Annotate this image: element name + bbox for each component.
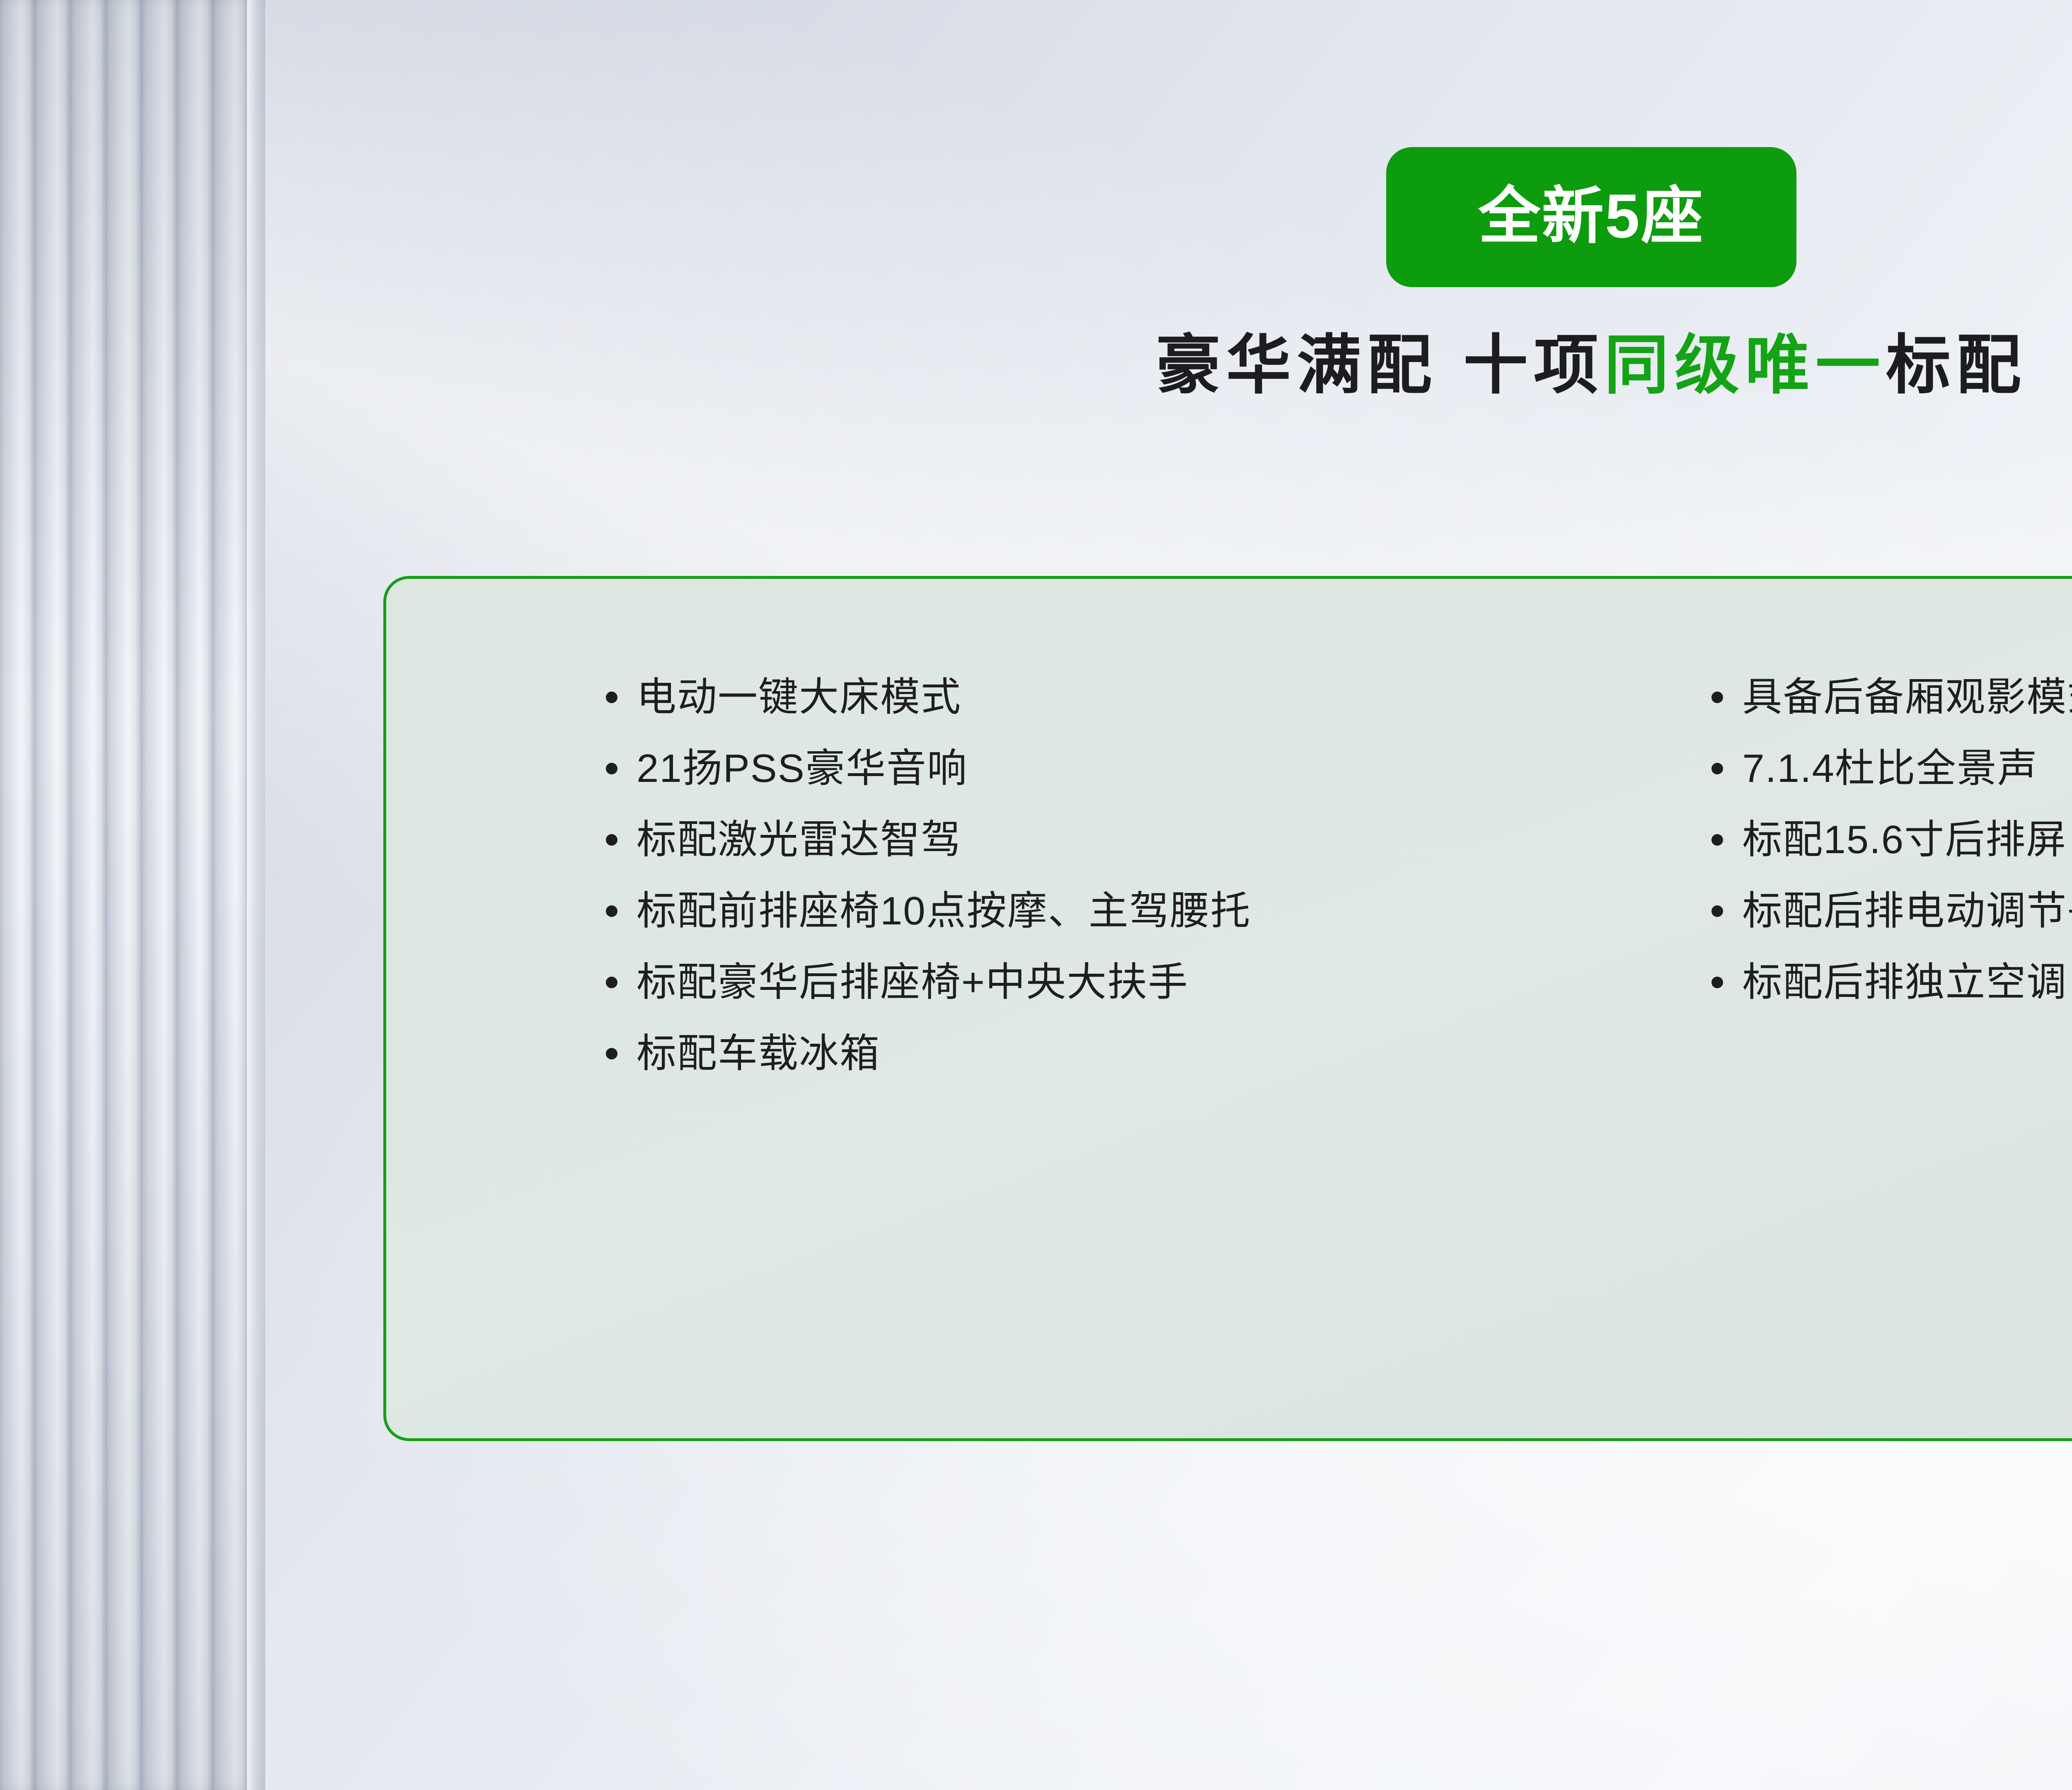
new-5-seat-badge: 全新5座 bbox=[1386, 147, 1796, 287]
bullet-icon bbox=[1711, 977, 1723, 988]
feature-item-label: 标配后排独立空调（三区空调） bbox=[1742, 963, 2072, 1002]
bullet-icon bbox=[606, 977, 617, 988]
feature-item-label: 电动一键大床模式 bbox=[637, 677, 961, 717]
feature-column-left: 电动一键大床模式21扬PSS豪华音响标配激光雷达智驾标配前排座椅10点按摩、主驾… bbox=[386, 579, 1569, 1438]
feature-columns: 电动一键大床模式21扬PSS豪华音响标配激光雷达智驾标配前排座椅10点按摩、主驾… bbox=[386, 579, 2072, 1438]
feature-item-label: 标配车载冰箱 bbox=[637, 1034, 880, 1074]
feature-item: 标配豪华后排座椅+中央大扶手 bbox=[606, 947, 1569, 1018]
feature-column-right: 具备后备厢观影模式7.1.4杜比全景声标配15.6寸后排屏标配后排电动调节+10… bbox=[1569, 579, 2072, 1438]
left-fluted-wall-highlight bbox=[247, 0, 269, 1790]
feature-item-label: 具备后备厢观影模式 bbox=[1742, 677, 2072, 717]
headline-part-2: 十项 bbox=[1463, 329, 1604, 402]
feature-item-label: 标配豪华后排座椅+中央大扶手 bbox=[637, 963, 1188, 1002]
feature-item-label: 标配后排电动调节+10点按摩 bbox=[1742, 891, 2072, 931]
bullet-icon bbox=[606, 692, 617, 703]
feature-item-label: 21扬PSS豪华音响 bbox=[637, 749, 968, 789]
page-title: 豪华满配十项同级唯一标配 bbox=[0, 327, 2072, 404]
bullet-icon bbox=[606, 763, 617, 774]
feature-item: 标配前排座椅10点按摩、主驾腰托 bbox=[606, 876, 1569, 947]
bullet-icon bbox=[606, 834, 617, 846]
bullet-icon bbox=[1711, 692, 1723, 703]
feature-item-label: 标配激光雷达智驾 bbox=[637, 820, 961, 860]
feature-panel: 电动一键大床模式21扬PSS豪华音响标配激光雷达智驾标配前排座椅10点按摩、主驾… bbox=[383, 576, 2072, 1441]
bullet-icon bbox=[1711, 834, 1723, 846]
bullet-icon bbox=[1711, 763, 1723, 774]
bullet-icon bbox=[1711, 905, 1723, 917]
headline-part-1: 豪华满配 bbox=[1156, 329, 1438, 402]
feature-list-left: 电动一键大床模式21扬PSS豪华音响标配激光雷达智驾标配前排座椅10点按摩、主驾… bbox=[606, 579, 1569, 1089]
bullet-icon bbox=[606, 905, 617, 917]
feature-item-label: 7.1.4杜比全景声 bbox=[1742, 749, 2038, 789]
slide-stage: 全新5座 豪华满配十项同级唯一标配 电动一键大床模式21扬PSS豪华音响标配激光… bbox=[0, 0, 2072, 1790]
feature-list-right: 具备后备厢观影模式7.1.4杜比全景声标配15.6寸后排屏标配后排电动调节+10… bbox=[1711, 579, 2072, 1018]
headline-highlight: 同级唯一 bbox=[1604, 329, 1886, 402]
feature-item: 电动一键大床模式 bbox=[606, 662, 1569, 733]
feature-item: 标配后排电动调节+10点按摩 bbox=[1711, 876, 2072, 947]
bullet-icon bbox=[606, 1048, 617, 1059]
feature-item: 标配车载冰箱 bbox=[606, 1018, 1569, 1089]
feature-item-label: 标配15.6寸后排屏 bbox=[1742, 820, 2067, 860]
feature-item: 具备后备厢观影模式 bbox=[1711, 662, 2072, 733]
feature-item-label: 标配前排座椅10点按摩、主驾腰托 bbox=[637, 891, 1251, 931]
headline-part-3: 标配 bbox=[1886, 329, 2027, 402]
feature-item: 标配后排独立空调（三区空调） bbox=[1711, 947, 2072, 1018]
feature-item: 21扬PSS豪华音响 bbox=[606, 733, 1569, 804]
badge-label: 全新5座 bbox=[1478, 185, 1704, 247]
feature-item: 标配激光雷达智驾 bbox=[606, 804, 1569, 876]
feature-item: 标配15.6寸后排屏 bbox=[1711, 804, 2072, 876]
left-fluted-wall-shading bbox=[0, 0, 265, 1790]
feature-item: 7.1.4杜比全景声 bbox=[1711, 733, 2072, 804]
